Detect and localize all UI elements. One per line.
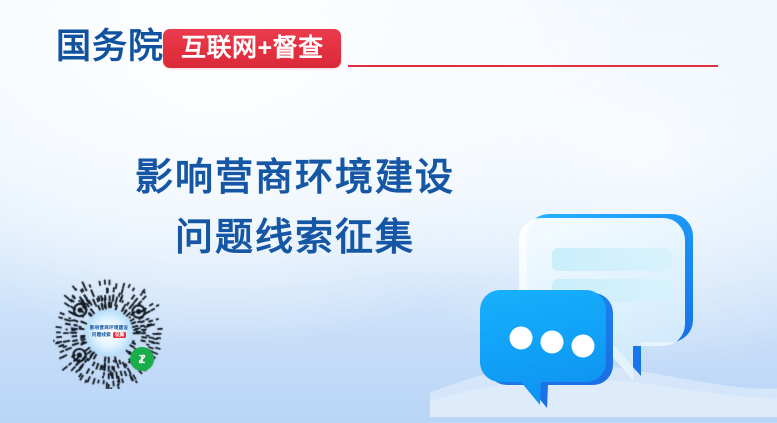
internet-plus-supervision-badge[interactable]: 互联网+督查 — [163, 29, 341, 68]
campaign-title-line-1: 影响营商环境建设 — [60, 148, 530, 208]
qr-code-pattern — [53, 277, 165, 389]
banner-header: 国务院 互联网+督查 — [0, 0, 777, 95]
wechat-miniprogram-badge[interactable] — [130, 347, 154, 371]
miniprogram-qr-code[interactable]: 影响营商环境建设 问题线索 征集 — [53, 277, 165, 389]
gov-campaign-banner: 国务院 互联网+督查 影响营商环境建设 问题线索征集 影响营商环境建设 问题线索… — [0, 0, 777, 423]
internet-plus-supervision-badge-label: 互联网+督查 — [181, 35, 324, 62]
header-red-rule — [348, 65, 718, 67]
chat-bubbles-illustration — [462, 185, 762, 410]
campaign-title-line-2: 问题线索征集 — [60, 208, 530, 268]
state-council-logo: 国务院 — [56, 27, 164, 67]
campaign-title: 影响营商环境建设 问题线索征集 — [60, 148, 530, 268]
wechat-miniprogram-icon — [134, 351, 150, 367]
